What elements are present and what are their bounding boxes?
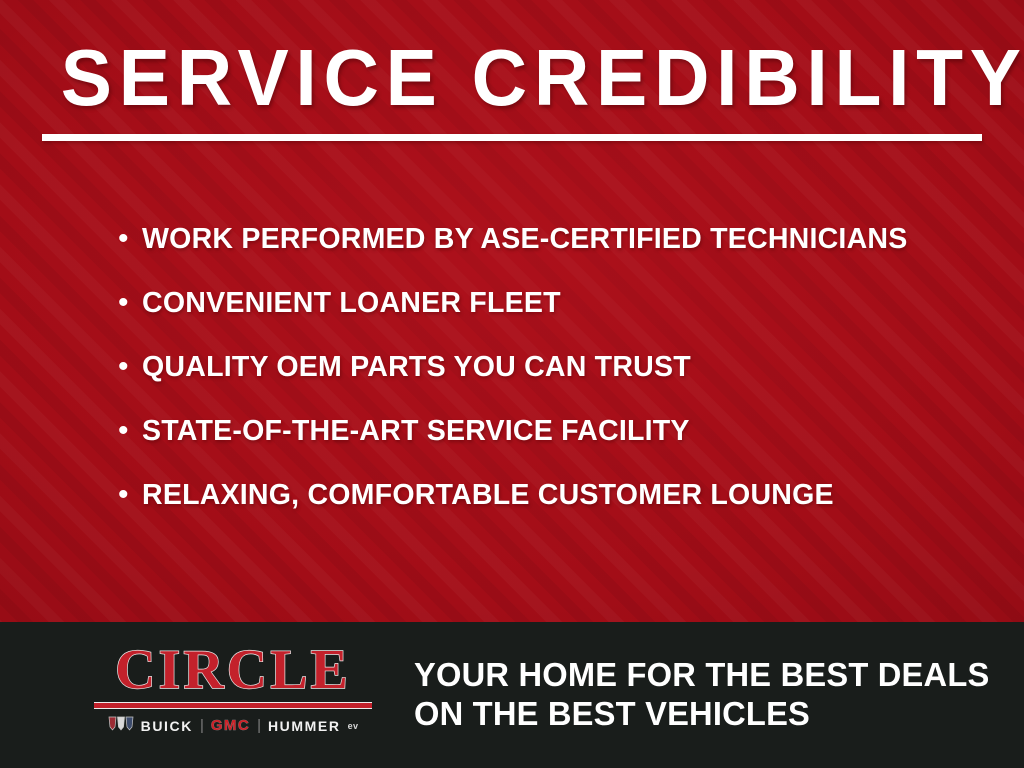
- logo-divider-rule: [94, 702, 372, 709]
- list-item: • STATE-OF-THE-ART SERVICE FACILITY: [118, 414, 998, 478]
- brand-label-hummer: HUMMER: [268, 718, 341, 734]
- list-item: • WORK PERFORMED BY ASE-CERTIFIED TECHNI…: [118, 222, 998, 286]
- dealer-logo: CIRCLE BUICK | GMC | HUMMER ev: [88, 642, 378, 736]
- bullet-dot-icon: •: [118, 414, 142, 448]
- brand-lockup: BUICK | GMC | HUMMER ev: [88, 716, 378, 736]
- bullet-dot-icon: •: [118, 478, 142, 512]
- brand-label-hummer-ev-suffix: ev: [348, 721, 359, 731]
- tagline-line-2: ON THE BEST VEHICLES: [414, 694, 988, 733]
- title-block: SERVICE CREDIBILITY: [42, 36, 982, 141]
- list-item: • QUALITY OEM PARTS YOU CAN TRUST: [118, 350, 998, 414]
- page-title: SERVICE CREDIBILITY: [61, 36, 963, 120]
- bullet-dot-icon: •: [118, 222, 142, 256]
- list-item-label: CONVENIENT LOANER FLEET: [142, 286, 561, 320]
- dealer-tagline: YOUR HOME FOR THE BEST DEALS ON THE BEST…: [414, 655, 994, 733]
- presentation-slide: SERVICE CREDIBILITY • WORK PERFORMED BY …: [0, 0, 1024, 768]
- buick-tri-shield-icon: [108, 716, 134, 736]
- list-item-label: RELAXING, COMFORTABLE CUSTOMER LOUNGE: [142, 478, 834, 512]
- title-underline-rule: [42, 134, 982, 141]
- brand-label-buick: BUICK: [141, 718, 193, 734]
- list-item-label: STATE-OF-THE-ART SERVICE FACILITY: [142, 414, 690, 448]
- tagline-line-1: YOUR HOME FOR THE BEST DEALS: [414, 655, 988, 694]
- bullet-dot-icon: •: [118, 286, 142, 320]
- brand-separator: |: [200, 718, 204, 734]
- logo-wordmark: CIRCLE: [88, 642, 378, 698]
- list-item: • CONVENIENT LOANER FLEET: [118, 286, 998, 350]
- feature-bullet-list: • WORK PERFORMED BY ASE-CERTIFIED TECHNI…: [118, 222, 998, 542]
- bullet-dot-icon: •: [118, 350, 142, 384]
- list-item-label: QUALITY OEM PARTS YOU CAN TRUST: [142, 350, 691, 384]
- list-item: • RELAXING, COMFORTABLE CUSTOMER LOUNGE: [118, 478, 998, 542]
- brand-label-gmc: GMC: [211, 718, 250, 734]
- list-item-label: WORK PERFORMED BY ASE-CERTIFIED TECHNICI…: [142, 222, 907, 256]
- brand-separator: |: [257, 718, 261, 734]
